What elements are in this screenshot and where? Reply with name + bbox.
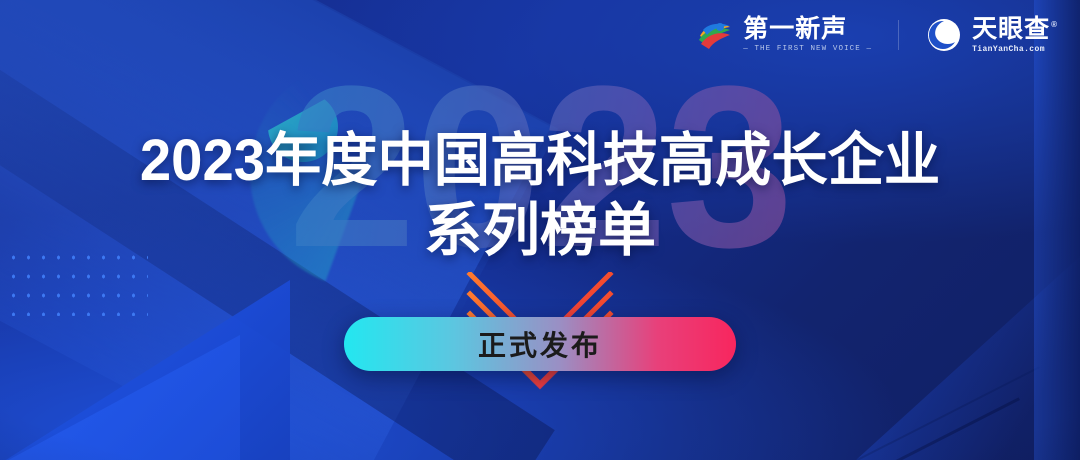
logo-diyixinsheng-name: 第一新声	[743, 17, 872, 42]
logo-tianyancha-domain: TianYanCha.com	[972, 46, 1058, 54]
release-status-button[interactable]: 正式发布	[344, 317, 736, 371]
logo-diyixinsheng[interactable]: 第一新声 — THE FIRST NEW VOICE —	[696, 16, 872, 54]
award-announcement-banner: 2023 2023年度中国高科技高成长企业 系列榜单	[0, 0, 1080, 460]
logo-diyixinsheng-tagline: — THE FIRST NEW VOICE —	[743, 46, 872, 54]
camera-aperture-eye-icon	[925, 16, 963, 54]
logo-tianyancha-name-text: 天眼查	[972, 15, 1050, 43]
title-line-2: 系列榜单	[0, 199, 1080, 263]
swirl-ribbon-icon	[696, 16, 734, 54]
logo-diyixinsheng-text: 第一新声 — THE FIRST NEW VOICE —	[743, 17, 872, 54]
release-status-label: 正式发布	[478, 324, 602, 364]
logo-group: 第一新声 — THE FIRST NEW VOICE — 天眼查® TianYa…	[696, 16, 1058, 54]
logo-divider	[898, 20, 899, 50]
logo-tianyancha-name: 天眼查®	[972, 17, 1058, 42]
title-line-1: 2023年度中国高科技高成长企业	[16, 129, 1064, 193]
trademark-symbol: ®	[1051, 20, 1058, 29]
logo-tianyancha[interactable]: 天眼查® TianYanCha.com	[925, 16, 1058, 54]
logo-tianyancha-text: 天眼查® TianYanCha.com	[972, 17, 1058, 54]
page-title: 2023年度中国高科技高成长企业 系列榜单	[0, 129, 1080, 263]
